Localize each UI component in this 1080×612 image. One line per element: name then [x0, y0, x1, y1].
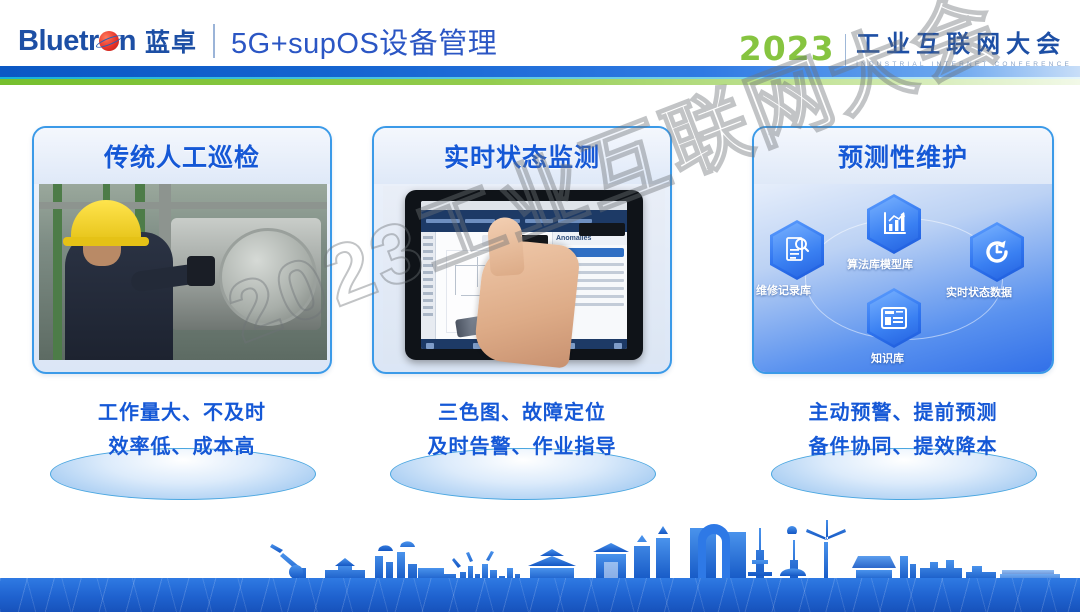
caption-row: 工作量大、不及时 效率低、成本高 三色图、故障定位 及时告警、作业指导 主动预警…	[0, 396, 1080, 516]
caption-line: 备件协同、提效降本	[752, 430, 1054, 464]
hexagon-shape	[867, 288, 921, 348]
bluetron-wordmark: Bluetr n	[18, 25, 136, 58]
bar-chart-trend-icon	[881, 211, 907, 237]
badge-title-cn: 工业互联网大会	[856, 33, 1072, 57]
badge-year: 2023	[739, 32, 835, 65]
caption-predictive-maintenance: 主动预警、提前预测 备件协同、提效降本	[752, 396, 1054, 464]
card-title: 实时状态监测	[374, 128, 670, 184]
slide-header: Bluetr n 蓝卓 5G+supOS设备管理 2023 中国·苏州 6月14…	[0, 0, 1080, 96]
foreground-panel	[0, 578, 1080, 612]
city-skyline-icon	[0, 520, 1080, 582]
card-row: 传统人工巡检	[0, 126, 1080, 386]
handheld-device	[187, 256, 215, 286]
node-repair-records[interactable]: 维修记录库	[770, 220, 824, 280]
refresh-cycle-icon	[983, 238, 1011, 266]
page-title: 5G+supOS设备管理	[231, 20, 497, 62]
card-title: 预测性维护	[754, 128, 1052, 184]
field-inspection-photo	[39, 184, 327, 360]
caption-manual-inspection: 工作量大、不及时 效率低、成本高	[32, 396, 332, 464]
hexagon-shape	[867, 194, 921, 254]
header-green-bar	[0, 79, 1080, 85]
header-divider	[213, 24, 215, 58]
node-algorithm-library[interactable]: 算法库模型库	[867, 194, 921, 254]
app-side-list	[421, 232, 436, 339]
card-body	[34, 184, 330, 374]
index-finger	[487, 216, 525, 276]
caption-line: 工作量大、不及时	[32, 396, 332, 430]
card-title: 传统人工巡检	[34, 128, 330, 184]
hand-touching-screen	[473, 237, 581, 368]
logo-text-head: Bluetr	[18, 25, 99, 58]
brand-logo: Bluetr n 蓝卓 5G+supOS设备管理	[18, 20, 497, 62]
knowledge-card-icon	[880, 306, 908, 330]
orbital-sphere-icon	[99, 31, 119, 51]
node-knowledge-base[interactable]: 知识库	[867, 288, 921, 348]
card-predictive-maintenance[interactable]: 预测性维护 维修记录库	[752, 126, 1054, 374]
context-popup	[579, 223, 625, 236]
brand-name-cn: 蓝卓	[145, 23, 197, 59]
card-realtime-monitoring[interactable]: 实时状态监测	[372, 126, 672, 374]
logo-text-tail: n	[119, 25, 136, 58]
node-realtime-data[interactable]: 实时状态数据	[970, 222, 1024, 282]
slide-root: Bluetr n 蓝卓 5G+supOS设备管理 2023 中国·苏州 6月14…	[0, 0, 1080, 612]
status-bar	[421, 201, 627, 210]
equipment-flange	[219, 228, 317, 326]
header-blue-bar	[0, 66, 1080, 77]
caption-line: 效率低、成本高	[32, 430, 332, 464]
document-search-icon	[784, 236, 810, 264]
pipe	[53, 184, 62, 360]
caption-line: 主动预警、提前预测	[752, 396, 1054, 430]
hexagon-shape	[770, 220, 824, 280]
node-label: 知识库	[871, 350, 904, 366]
caption-realtime-monitoring: 三色图、故障定位 及时告警、作业指导	[372, 396, 672, 464]
card-manual-inspection[interactable]: 传统人工巡检	[32, 126, 332, 374]
caption-line: 及时告警、作业指导	[372, 430, 672, 464]
card-body: 维修记录库 算法库模型库	[754, 184, 1052, 374]
hexagon-shape	[970, 222, 1024, 282]
node-label: 实时状态数据	[946, 284, 1012, 300]
tablet-photo: Anomalies	[383, 186, 665, 364]
caption-line: 三色图、故障定位	[372, 396, 672, 430]
card-body: Anomalies	[374, 184, 670, 374]
node-label: 维修记录库	[756, 282, 811, 298]
node-label: 算法库模型库	[847, 256, 913, 272]
slide-footer	[0, 520, 1080, 612]
